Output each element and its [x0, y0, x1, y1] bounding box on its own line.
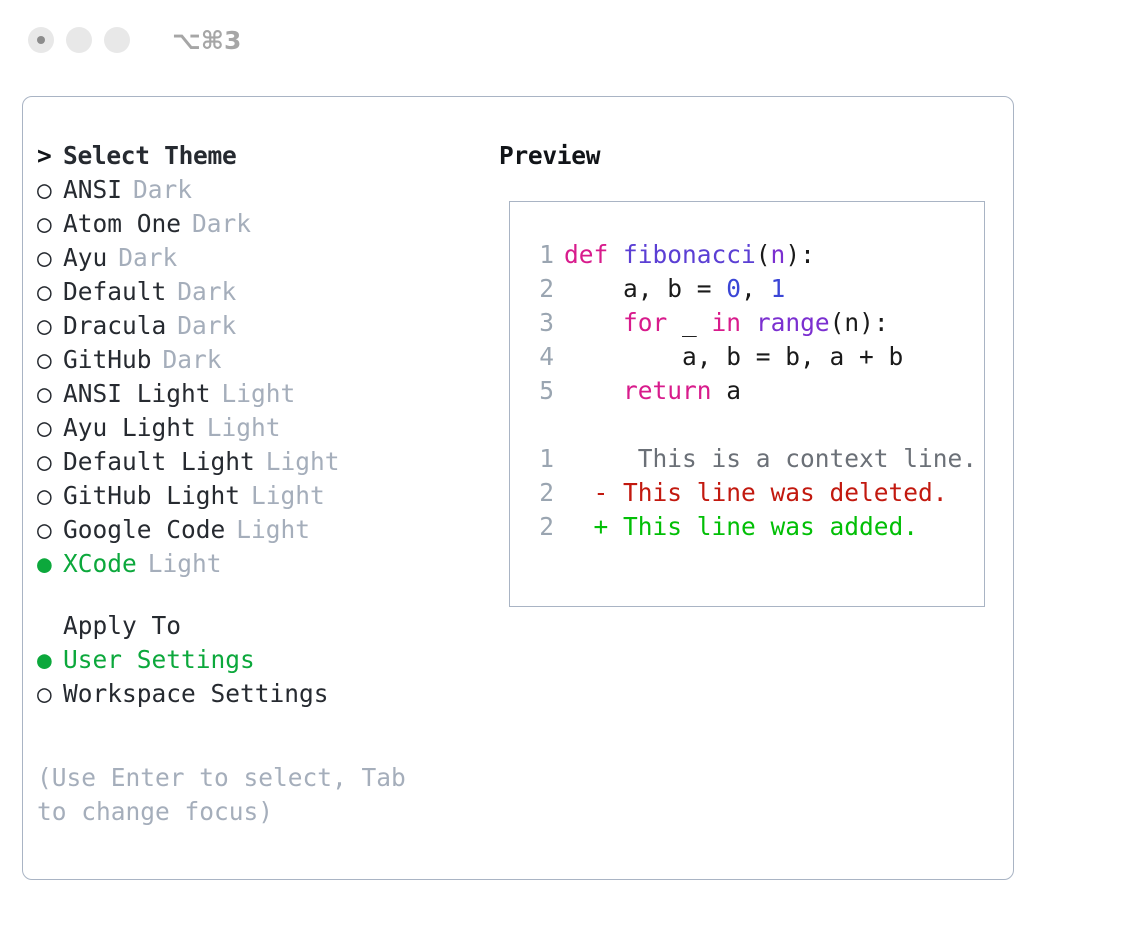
- diff-sign: +: [564, 510, 608, 544]
- diff-line: 2 + This line was added.: [528, 510, 978, 544]
- code-line-text: a, b = 0, 1: [564, 272, 785, 306]
- theme-variant-badge: Light: [251, 479, 325, 513]
- theme-option-xcode[interactable]: ●XCodeLight: [37, 547, 487, 581]
- window-controls: [28, 27, 130, 53]
- code-line: 4 a, b = b, a + b: [528, 340, 978, 374]
- radio-unselected-icon: ○: [37, 343, 63, 377]
- theme-option-label: Dracula: [63, 309, 166, 343]
- radio-unselected-icon: ○: [37, 309, 63, 343]
- theme-variant-badge: Light: [148, 547, 222, 581]
- diff-line: 2 - This line was deleted.: [528, 476, 978, 510]
- code-line-text: for _ in range(n):: [564, 306, 889, 340]
- theme-option-label: Default Light: [63, 445, 255, 479]
- radio-unselected-icon: ○: [37, 513, 63, 547]
- radio-unselected-icon: ○: [37, 173, 63, 207]
- theme-option-default-light[interactable]: ○Default LightLight: [37, 445, 487, 479]
- select-theme-header-label: Select Theme: [63, 139, 236, 173]
- theme-variant-badge: Dark: [118, 241, 177, 275]
- theme-option-label: Ayu: [63, 241, 107, 275]
- code-token-num: 1: [771, 274, 786, 303]
- theme-option-ansi[interactable]: ○ANSIDark: [37, 173, 487, 207]
- code-line-number: 3: [528, 306, 554, 340]
- theme-variant-badge: Dark: [133, 173, 192, 207]
- window-dot-active-inner-icon: [37, 36, 45, 44]
- window-dot-second-icon[interactable]: [66, 27, 92, 53]
- diff-line-number: 2: [528, 476, 554, 510]
- code-token-var: ,: [741, 274, 771, 303]
- apply-to-option-label: Workspace Settings: [63, 677, 329, 711]
- theme-variant-badge: Light: [222, 377, 296, 411]
- select-theme-header: >Select Theme: [37, 139, 487, 173]
- theme-option-label: GitHub: [63, 343, 152, 377]
- code-line: 3 for _ in range(n):: [528, 306, 978, 340]
- title-bar: ⌥⌘3: [0, 0, 1140, 80]
- code-line-text: a, b = b, a + b: [564, 340, 903, 374]
- code-token-var: a: [712, 376, 742, 405]
- code-token-kw: in: [712, 308, 742, 337]
- code-line-number: 5: [528, 374, 554, 408]
- code-line-number: 1: [528, 238, 554, 272]
- theme-option-atom-one[interactable]: ○Atom OneDark: [37, 207, 487, 241]
- code-line-number: 2: [528, 272, 554, 306]
- code-sample-lines: 1def fibonacci(n):2 a, b = 0, 13 for _ i…: [528, 238, 978, 408]
- diff-line-number: 1: [528, 442, 554, 476]
- code-token-punc: (: [756, 240, 771, 269]
- diff-line-number: 2: [528, 510, 554, 544]
- theme-variant-badge: Light: [207, 411, 281, 445]
- code-token-punc: ):: [785, 240, 815, 269]
- keyboard-hint-text: (Use Enter to select, Tab to change focu…: [37, 761, 447, 829]
- radio-unselected-icon: ○: [37, 207, 63, 241]
- code-token-var: a, b = b, a + b: [564, 342, 903, 371]
- theme-option-github[interactable]: ○GitHubDark: [37, 343, 487, 377]
- theme-variant-badge: Dark: [192, 207, 251, 241]
- code-line: 2 a, b = 0, 1: [528, 272, 978, 306]
- code-token-var: _: [667, 308, 711, 337]
- theme-options-list: ○ANSIDark○Atom OneDark○AyuDark○DefaultDa…: [37, 173, 487, 581]
- radio-unselected-icon: ○: [37, 411, 63, 445]
- code-line-text: def fibonacci(n):: [564, 238, 815, 272]
- theme-selector-panel: >Select Theme ○ANSIDark○Atom OneDark○Ayu…: [22, 96, 1014, 880]
- theme-option-google-code[interactable]: ○Google CodeLight: [37, 513, 487, 547]
- code-line: 5 return a: [528, 374, 978, 408]
- preview-code-box: 1def fibonacci(n):2 a, b = 0, 13 for _ i…: [509, 201, 985, 607]
- radio-selected-icon: ●: [37, 643, 63, 677]
- diff-sample-lines: 1 This is a context line.2 - This line w…: [528, 442, 978, 544]
- theme-option-label: ANSI: [63, 173, 122, 207]
- radio-selected-icon: ●: [37, 547, 63, 581]
- code-line-text: return a: [564, 374, 741, 408]
- apply-to-header-label: Apply To: [63, 609, 181, 643]
- radio-unselected-icon: ○: [37, 377, 63, 411]
- keyboard-shortcut-label: ⌥⌘3: [172, 26, 241, 55]
- theme-variant-badge: Dark: [163, 343, 222, 377]
- theme-option-label: Ayu Light: [63, 411, 196, 445]
- code-token-punc: (n):: [830, 308, 889, 337]
- theme-option-label: XCode: [63, 547, 137, 581]
- prompt-caret-icon: >: [37, 139, 63, 173]
- radio-unselected-icon: ○: [37, 479, 63, 513]
- theme-option-ayu-light[interactable]: ○Ayu LightLight: [37, 411, 487, 445]
- theme-option-label: ANSI Light: [63, 377, 211, 411]
- window-dot-third-icon[interactable]: [104, 27, 130, 53]
- code-token-name: range: [756, 308, 830, 337]
- code-line: 1def fibonacci(n):: [528, 238, 978, 272]
- apply-to-option-user-settings[interactable]: ●User Settings: [37, 643, 487, 677]
- code-token-kw: return: [623, 376, 712, 405]
- code-token-kw: def: [564, 240, 623, 269]
- theme-variant-badge: Dark: [177, 275, 236, 309]
- preview-code-content: 1def fibonacci(n):2 a, b = 0, 13 for _ i…: [528, 238, 978, 544]
- apply-to-options-list: ●User Settings○Workspace Settings: [37, 643, 487, 711]
- diff-line-text: This line was added.: [608, 510, 918, 544]
- theme-list-column: >Select Theme ○ANSIDark○Atom OneDark○Ayu…: [37, 139, 487, 711]
- code-token-var: a, b =: [564, 274, 726, 303]
- app-window: ⌥⌘3 >Select Theme ○ANSIDark○Atom OneDark…: [0, 0, 1140, 934]
- theme-variant-badge: Light: [236, 513, 310, 547]
- code-token-var: [564, 308, 623, 337]
- window-dot-active-icon[interactable]: [28, 27, 54, 53]
- preview-title: Preview: [499, 139, 999, 173]
- theme-option-label: Google Code: [63, 513, 225, 547]
- theme-option-ansi-light[interactable]: ○ANSI LightLight: [37, 377, 487, 411]
- theme-option-ayu[interactable]: ○AyuDark: [37, 241, 487, 275]
- apply-to-option-workspace-settings[interactable]: ○Workspace Settings: [37, 677, 487, 711]
- code-token-name: n: [771, 240, 786, 269]
- theme-variant-badge: Dark: [177, 309, 236, 343]
- theme-option-label: GitHub Light: [63, 479, 240, 513]
- theme-option-github-light[interactable]: ○GitHub LightLight: [37, 479, 487, 513]
- code-token-var: [564, 376, 623, 405]
- diff-sign: -: [564, 476, 608, 510]
- radio-unselected-icon: ○: [37, 677, 63, 711]
- apply-to-header: Apply To: [37, 609, 487, 643]
- radio-unselected-icon: ○: [37, 241, 63, 275]
- code-line-number: 4: [528, 340, 554, 374]
- code-token-var: [741, 308, 756, 337]
- theme-variant-badge: Light: [266, 445, 340, 479]
- diff-sign: [564, 442, 608, 476]
- code-token-kw: for: [623, 308, 667, 337]
- code-token-fn: fibonacci: [623, 240, 756, 269]
- diff-line: 1 This is a context line.: [528, 442, 978, 476]
- theme-option-dracula[interactable]: ○DraculaDark: [37, 309, 487, 343]
- code-token-num: 0: [726, 274, 741, 303]
- radio-unselected-icon: ○: [37, 275, 63, 309]
- theme-option-default[interactable]: ○DefaultDark: [37, 275, 487, 309]
- radio-unselected-icon: ○: [37, 445, 63, 479]
- diff-line-text: This is a context line.: [608, 442, 977, 476]
- diff-line-text: This line was deleted.: [608, 476, 947, 510]
- apply-to-option-label: User Settings: [63, 643, 255, 677]
- code-diff-spacer: [528, 408, 978, 442]
- theme-option-label: Default: [63, 275, 166, 309]
- theme-option-label: Atom One: [63, 207, 181, 241]
- preview-column: Preview 1def fibonacci(n):2 a, b = 0, 13…: [499, 139, 999, 173]
